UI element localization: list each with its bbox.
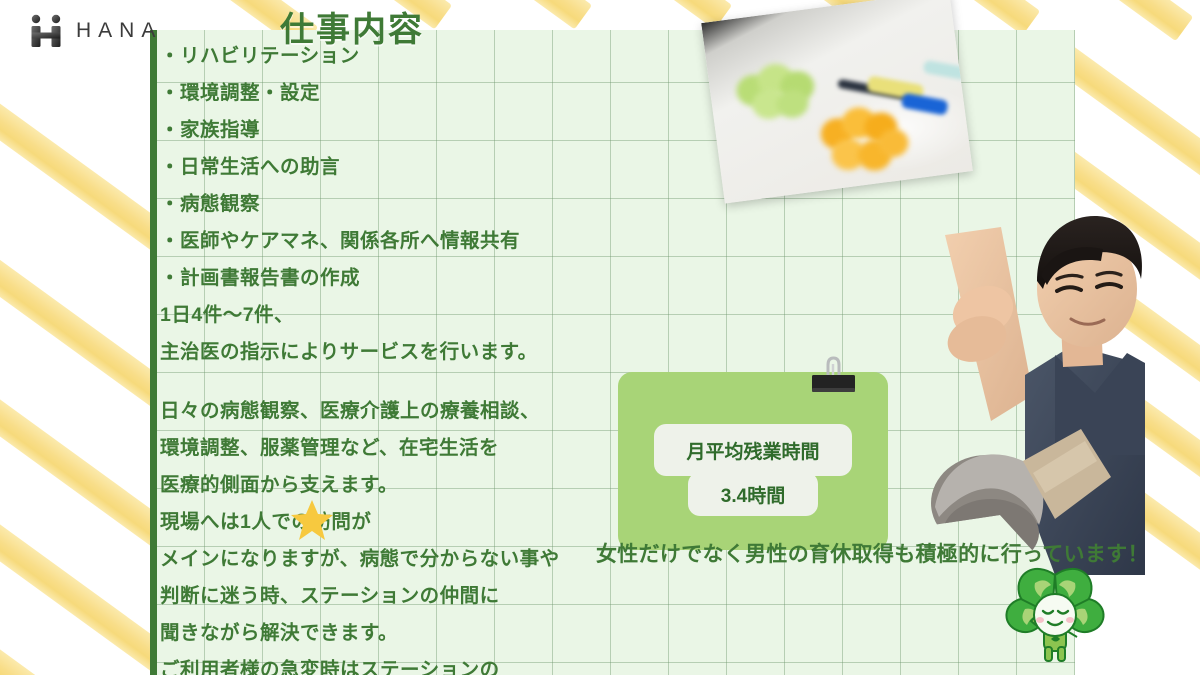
paragraph-line: 日々の病態観察、医療介護上の療養相談、: [160, 393, 630, 430]
therapist-rehab-photo: [905, 215, 1145, 575]
brand-logo: HANA: [28, 14, 162, 48]
overtime-label-pill: 月平均残業時間: [654, 424, 852, 476]
clover-mascot-icon: [995, 565, 1115, 670]
list-item: ・計画書報告書の作成: [160, 260, 630, 297]
slide-canvas: HANA 仕事内容: [0, 0, 1200, 675]
hana-people-h-icon: [28, 14, 66, 48]
list-item: ・病態観察: [160, 186, 630, 223]
list-item: ・家族指導: [160, 112, 630, 149]
paragraph-line: 医療的側面から支えます。: [160, 467, 630, 504]
paragraph-line: メインになりますが、病態で分からない事や: [160, 541, 630, 578]
parental-leave-caption: 女性だけでなく男性の育休取得も積極的に行っています！: [596, 538, 1149, 568]
medication-pills-photo: [701, 0, 973, 204]
overtime-value: 3.4時間: [721, 481, 785, 508]
yellow-star-icon: [290, 498, 334, 542]
paragraph-line: 聞きながら解決できます。: [160, 615, 630, 652]
paragraph-line: 判断に迷う時、ステーションの仲間に: [160, 578, 630, 615]
case-count-line: 1日4件〜7件、: [160, 297, 630, 334]
job-description-text: ・リハビリテーション ・環境調整・設定 ・家族指導 ・日常生活への助言 ・病態観…: [160, 38, 630, 675]
paragraph-line: ご利用者様の急変時はステーションの: [160, 652, 630, 675]
logo-text: HANA: [76, 19, 162, 43]
doctor-instruction-line: 主治医の指示によりサービスを行います。: [160, 334, 630, 371]
paragraph-line: 現場へは1人での訪問が: [160, 504, 630, 541]
list-item: ・日常生活への助言: [160, 149, 630, 186]
overtime-value-pill: 3.4時間: [688, 472, 818, 516]
paragraph-line: 環境調整、服薬管理など、在宅生活を: [160, 430, 630, 467]
overtime-stat-card: 月平均残業時間 3.4時間: [618, 372, 888, 550]
overtime-label: 月平均残業時間: [686, 437, 819, 464]
list-item: ・医師やケアマネ、関係各所へ情報共有: [160, 223, 630, 260]
binder-clip-icon: [806, 355, 861, 395]
list-item: ・リハビリテーション: [160, 38, 630, 75]
list-item: ・環境調整・設定: [160, 75, 630, 112]
